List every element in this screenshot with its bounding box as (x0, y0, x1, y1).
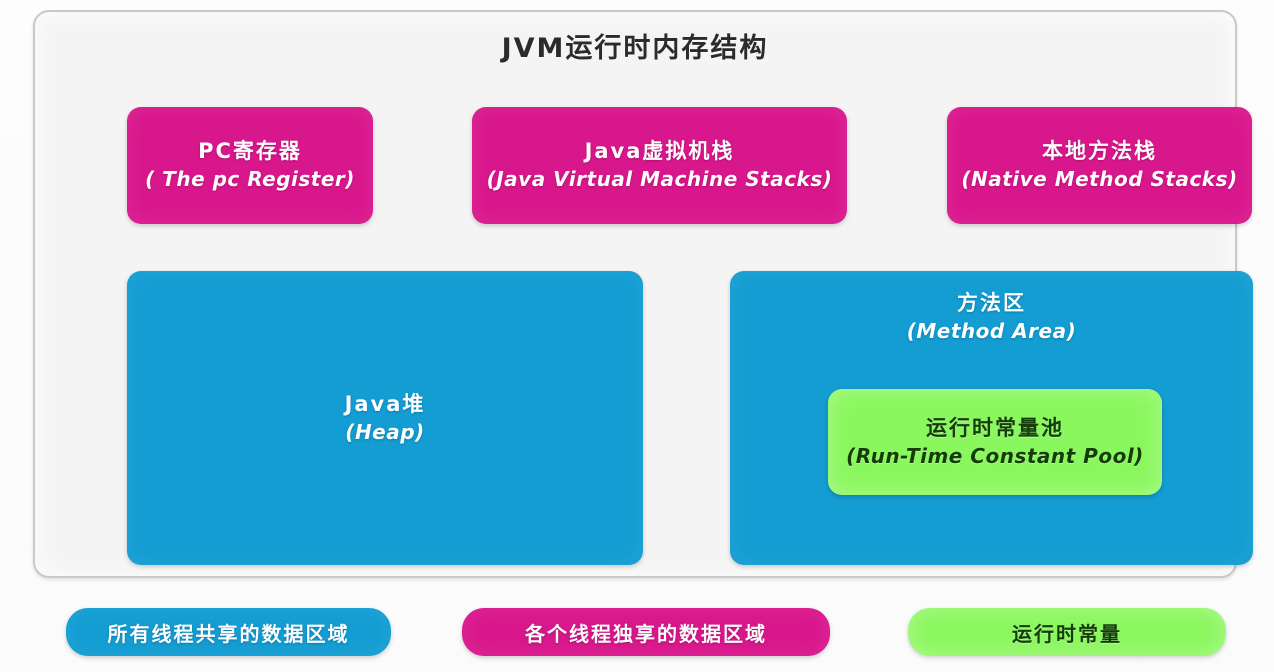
block-pc-register: PC寄存器 ( The pc Register) (127, 107, 373, 224)
block-run-time-constant-pool: 运行时常量池 (Run-Time Constant Pool) (828, 389, 1162, 495)
block-label-en: (Native Method Stacks) (961, 166, 1237, 192)
legend-item-runtime-constant: 运行时常量 (908, 608, 1226, 656)
block-native-method-stacks: 本地方法栈 (Native Method Stacks) (947, 107, 1252, 224)
legend-item-shared: 所有线程共享的数据区域 (66, 608, 391, 656)
block-label-en: (Method Area) (907, 318, 1076, 344)
block-label-en: ( The pc Register) (145, 166, 355, 192)
legend-item-label: 各个线程独享的数据区域 (525, 618, 767, 647)
block-label-cn: Java堆 (345, 391, 426, 419)
block-label-en: (Run-Time Constant Pool) (846, 443, 1144, 469)
block-label-cn: 运行时常量池 (926, 415, 1064, 443)
page-title: JVM运行时内存结构 (35, 26, 1235, 65)
legend-item-private: 各个线程独享的数据区域 (462, 608, 830, 656)
block-label-cn: 本地方法栈 (1042, 138, 1157, 166)
block-label-en: (Java Virtual Machine Stacks) (487, 166, 833, 192)
block-label-cn: PC寄存器 (198, 138, 302, 166)
block-method-area: 方法区 (Method Area) 运行时常量池 (Run-Time Const… (730, 271, 1253, 565)
block-java-heap: Java堆 (Heap) (127, 271, 643, 565)
legend-item-label: 所有线程共享的数据区域 (108, 618, 350, 647)
block-label-cn: 方法区 (957, 290, 1026, 318)
legend: 所有线程共享的数据区域 各个线程独享的数据区域 运行时常量 (0, 608, 1274, 664)
diagram-frame: JVM运行时内存结构 PC寄存器 ( The pc Register) Java… (33, 10, 1237, 578)
block-java-virtual-machine-stacks: Java虚拟机栈 (Java Virtual Machine Stacks) (472, 107, 847, 224)
legend-item-label: 运行时常量 (1012, 618, 1122, 647)
block-label-cn: Java虚拟机栈 (585, 138, 735, 166)
block-label-en: (Heap) (345, 419, 424, 445)
